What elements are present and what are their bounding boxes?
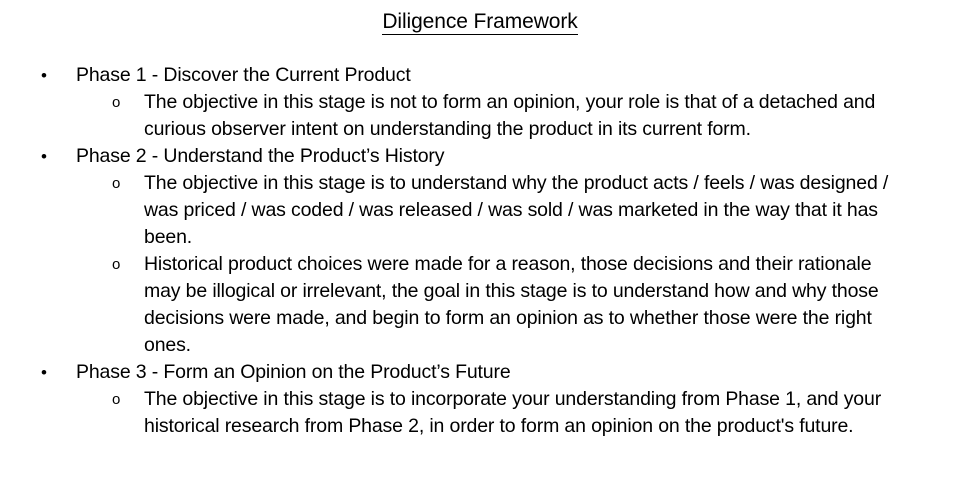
circle-bullet-icon: o [112, 89, 128, 116]
document-page: Diligence Framework •Phase 1 - Discover … [0, 0, 960, 495]
sub-bullet-text: The objective in this stage is not to fo… [144, 89, 895, 143]
circle-bullet-icon: o [112, 251, 128, 278]
sub-bullet-item: oHistorical product choices were made fo… [0, 251, 960, 359]
circle-bullet-icon: o [112, 170, 128, 197]
bullet-text: Phase 2 - Understand the Product’s Histo… [76, 143, 895, 170]
page-title: Diligence Framework [0, 8, 960, 35]
sub-bullet-item: oThe objective in this stage is to incor… [0, 386, 960, 440]
bullet-text: Phase 3 - Form an Opinion on the Product… [76, 359, 895, 386]
bullet-item: •Phase 3 - Form an Opinion on the Produc… [0, 359, 960, 386]
page-title-text: Diligence Framework [382, 10, 577, 35]
disc-bullet-icon: • [41, 143, 55, 170]
sub-bullet-text: Historical product choices were made for… [144, 251, 895, 359]
disc-bullet-icon: • [41, 359, 55, 386]
sub-bullet-text: The objective in this stage is to unders… [144, 170, 895, 251]
circle-bullet-icon: o [112, 386, 128, 413]
sub-bullet-item: oThe objective in this stage is not to f… [0, 89, 960, 143]
bullet-text: Phase 1 - Discover the Current Product [76, 62, 895, 89]
sub-bullet-text: The objective in this stage is to incorp… [144, 386, 895, 440]
disc-bullet-icon: • [41, 62, 55, 89]
outline-list: •Phase 1 - Discover the Current Producto… [0, 62, 960, 440]
bullet-item: •Phase 1 - Discover the Current Product [0, 62, 960, 89]
sub-bullet-item: oThe objective in this stage is to under… [0, 170, 960, 251]
bullet-item: •Phase 2 - Understand the Product’s Hist… [0, 143, 960, 170]
